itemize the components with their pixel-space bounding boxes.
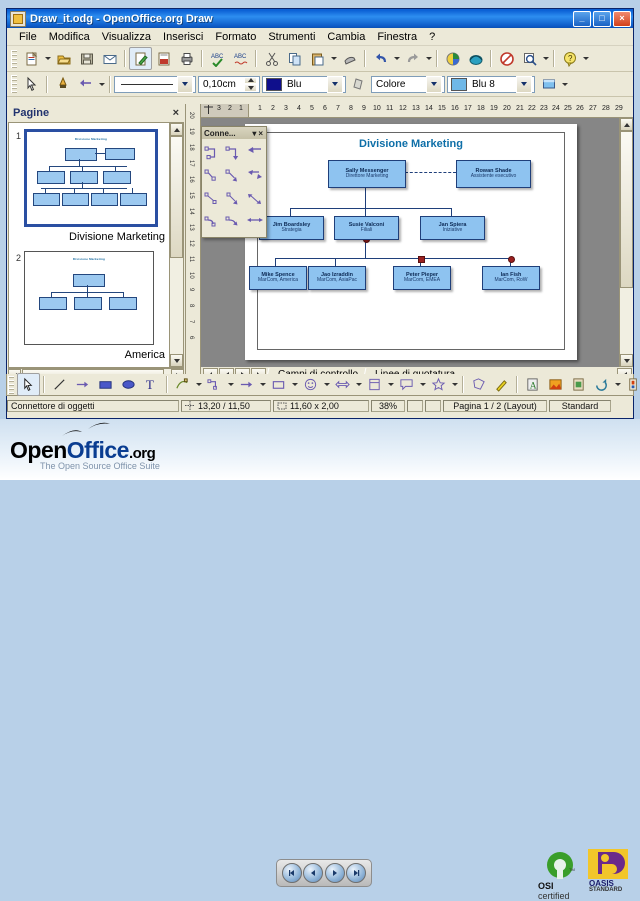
spinner-up-icon[interactable] [248, 78, 254, 82]
osi-bold-text: OSI [538, 881, 554, 891]
shadow-icon[interactable] [348, 73, 371, 96]
node-susie-valconi[interactable]: Susie Valconi Filiali [334, 216, 399, 240]
vruler-tick: 7 [188, 320, 194, 323]
chevron-down-icon [624, 359, 630, 363]
media-last-icon[interactable] [346, 863, 366, 883]
status-style: Standard [549, 400, 611, 412]
openoffice-logo: OpenOffice.org The Open Source Office Su… [10, 427, 160, 471]
help-icon[interactable]: ? [558, 47, 581, 70]
brand-office: Office [67, 437, 129, 463]
cut-icon[interactable] [260, 47, 283, 70]
ellipse-icon[interactable] [117, 373, 140, 396]
vruler-tick: 9 [188, 288, 194, 291]
mini-title: Divisione Marketing [25, 257, 153, 261]
workspace: Pagine × 1 Divisione Marketing [7, 104, 633, 382]
connector-to-jim[interactable] [290, 208, 291, 216]
pages-panel-header: Pagine × [7, 104, 185, 122]
hruler-tick: 7 [336, 105, 340, 112]
toolbar-grip[interactable] [11, 75, 17, 93]
node-rowan-shade[interactable]: Rowan Shade Assistente esecutivo [456, 160, 531, 188]
hruler-tick: 6 [323, 105, 327, 112]
hruler-tick: 21 [516, 105, 524, 112]
vruler-tick: 6 [188, 336, 194, 339]
window-controls: _ □ × [573, 11, 631, 27]
area-style-value: Colore [374, 79, 426, 90]
display-grid-icon[interactable] [495, 47, 518, 70]
page-caption-2: America [13, 347, 179, 368]
media-next-icon[interactable] [325, 863, 345, 883]
svg-text:A: A [530, 381, 537, 391]
rectangle-icon[interactable] [94, 373, 117, 396]
line-and-fill-toolbar: 0,10cm Blu Colore Blu 8 [7, 72, 633, 97]
toolbar-separator [436, 50, 438, 67]
application-window: Draw_it.odg - OpenOffice.org Draw _ □ × … [6, 8, 634, 419]
connector-tool-grid [202, 139, 266, 235]
scroll-down-button[interactable] [620, 354, 633, 367]
connector-icon[interactable] [203, 373, 226, 396]
status-size-value: 11,60 x 2,00 [290, 401, 339, 411]
connector-level3-bus[interactable] [275, 258, 510, 259]
line-width-value: 0,10cm [201, 79, 244, 90]
paste-icon[interactable] [306, 47, 329, 70]
symbol-shapes-dropdown[interactable] [322, 374, 331, 395]
connector-icon[interactable] [203, 141, 224, 164]
menu-inserisci[interactable]: Inserisci [157, 30, 209, 44]
bottom-banner: OpenOffice.org The Open Source Office Su… [0, 419, 640, 480]
horizontal-ruler[interactable]: 3 2 1 1 2 3 4 5 6 7 8 9 10 11 12 13 14 [201, 104, 633, 118]
line-style-preview [121, 84, 173, 85]
hruler-tick: 20 [503, 105, 511, 112]
undo-dropdown[interactable] [392, 48, 401, 69]
node-role: Assistente esecutivo [471, 174, 517, 180]
menu-formato[interactable]: Formato [209, 30, 262, 44]
chevron-down-icon[interactable] [426, 76, 442, 93]
toolbar-separator [201, 50, 203, 67]
page-thumbnail-1[interactable]: 1 Divisione Marketing [13, 129, 179, 227]
gallery-icon[interactable] [567, 373, 590, 396]
zoom-dropdown[interactable] [541, 48, 550, 69]
hruler-tick: 18 [477, 105, 485, 112]
chevron-down-icon[interactable] [177, 76, 193, 93]
save-document-icon[interactable] [75, 47, 98, 70]
brand-tagline: The Open Source Office Suite [40, 461, 160, 471]
hruler-tick: 11 [386, 105, 393, 112]
close-icon[interactable]: × [171, 107, 181, 119]
toolbar-grip[interactable] [11, 50, 17, 68]
hruler-tick: 26 [576, 105, 584, 112]
line-color-value: Blu [285, 79, 327, 90]
spinner-down-icon[interactable] [248, 86, 254, 90]
vruler-tick: 8 [188, 304, 194, 307]
connector-toolbar-titlebar[interactable]: Conne... ▾ × [202, 127, 266, 139]
toolbar-separator [124, 50, 126, 67]
hruler-tick: 9 [362, 105, 366, 112]
edit-file-icon[interactable] [129, 47, 152, 70]
redo-icon[interactable] [401, 47, 424, 70]
document-page[interactable]: Divisione Marketing [245, 124, 577, 360]
hruler-tick: 4 [297, 105, 301, 112]
connector-dropdown[interactable] [226, 374, 235, 395]
status-position: 13,20 / 11,50 [181, 400, 271, 412]
menu-modifica[interactable]: Modifica [43, 30, 96, 44]
hruler-tick: 2 [228, 105, 232, 112]
new-document-icon[interactable] [20, 47, 43, 70]
status-modified [407, 400, 423, 412]
connector-line-arrows-icon[interactable] [244, 164, 265, 187]
menu-cambia[interactable]: Cambia [321, 30, 371, 44]
hruler-tick: 13 [412, 105, 420, 112]
media-player-controls[interactable] [276, 859, 372, 887]
line-icon[interactable] [48, 373, 71, 396]
media-first-icon[interactable] [282, 863, 302, 883]
vruler-tick: 10 [188, 272, 194, 279]
toolbar-separator [462, 376, 464, 393]
menu-bar: File Modifica Visualizza Inserisci Forma… [7, 28, 633, 46]
area-color-value: Blu 8 [470, 79, 516, 90]
hruler-tick: 1 [258, 105, 262, 112]
hruler-tick: 28 [602, 105, 610, 112]
vruler-tick: 18 [188, 144, 194, 151]
ruler-origin-icon [204, 105, 213, 116]
hruler-tick: 23 [540, 105, 548, 112]
connector-starts-arrow-icon[interactable] [244, 141, 265, 164]
node-jan-spiera[interactable]: Jan Spiera Iniziative [420, 216, 485, 240]
hruler-tick: 16 [451, 105, 459, 112]
brand-org: .org [129, 445, 155, 462]
position-icon [185, 401, 195, 412]
node-jim-boardsley[interactable]: Jim Boardsley Strategia [259, 216, 324, 240]
vruler-tick: 19 [188, 128, 194, 135]
node-role: Iniziative [443, 228, 462, 234]
chevron-down-icon[interactable] [327, 76, 343, 93]
scrollbar-thumb[interactable] [170, 136, 183, 258]
svg-text:TM: TM [569, 867, 575, 872]
vruler-tick: 20 [188, 112, 194, 119]
node-role: Direttore Marketing [346, 174, 389, 180]
stars-dropdown[interactable] [450, 374, 459, 395]
connector-to-susie[interactable] [365, 208, 366, 216]
connector-ends-arrow-icon[interactable] [224, 141, 245, 164]
text-icon[interactable]: T [140, 373, 163, 396]
status-signature [425, 400, 441, 412]
menu-strumenti[interactable]: Strumenti [262, 30, 321, 44]
page-caption-1: Divisione Marketing [13, 229, 179, 251]
node-role: Strategia [281, 228, 301, 234]
connector-curved-arrow-end-icon[interactable] [224, 210, 245, 233]
scrollbar-thumb[interactable] [620, 131, 633, 288]
oasis-subtext: STANDARD [589, 887, 622, 893]
hruler-tick: 3 [284, 105, 288, 112]
toolbar-grip[interactable] [8, 376, 14, 394]
status-position-value: 13,20 / 11,50 [198, 401, 250, 411]
maximize-button[interactable]: □ [593, 11, 611, 27]
connector-handle-end[interactable] [508, 256, 515, 263]
title-bar: Draw_it.odg - OpenOffice.org Draw _ □ × [7, 9, 633, 28]
chevron-down-icon [174, 359, 180, 363]
page-preview[interactable]: Divisione Marketing [24, 129, 158, 227]
hruler-tick: 29 [615, 105, 623, 112]
node-role: MarCom, America [258, 278, 298, 284]
line-color-select[interactable]: Blu [262, 76, 346, 93]
arrow-style-icon[interactable] [74, 73, 97, 96]
copy-icon[interactable] [283, 47, 306, 70]
connector-straight-arrow-end-icon[interactable] [224, 187, 245, 210]
redo-dropdown[interactable] [424, 48, 433, 69]
arrow-style-dropdown[interactable] [97, 74, 106, 95]
hruler-tick: 25 [564, 105, 572, 112]
vruler-tick: 12 [188, 240, 194, 247]
connector-line-arrow-end-icon[interactable] [224, 164, 245, 187]
connector-sally-rowan[interactable] [405, 172, 456, 173]
3d-objects-icon[interactable] [467, 373, 490, 396]
toolbar-separator [364, 50, 366, 67]
connector-to-mike[interactable] [275, 258, 276, 266]
line-width-stepper[interactable] [244, 77, 257, 92]
hruler-tick: 2 [271, 105, 275, 112]
symbol-shapes-icon[interactable] [299, 373, 322, 396]
window-title: Draw_it.odg - OpenOffice.org Draw [30, 13, 573, 25]
toolbar-separator [516, 376, 518, 393]
size-icon [277, 401, 287, 412]
close-button[interactable]: × [613, 11, 631, 27]
standard-toolbar: ABC ABC [7, 46, 633, 72]
hruler-tick: 10 [373, 105, 381, 112]
connector-toolbar[interactable]: Conne... ▾ × [201, 126, 267, 238]
menu-finestra[interactable]: Finestra [371, 30, 423, 44]
toolbar-separator [43, 376, 45, 393]
svg-text:ABC: ABC [234, 54, 247, 60]
vruler-tick: 13 [188, 224, 194, 231]
menu-file[interactable]: File [13, 30, 43, 44]
scroll-down-button[interactable] [170, 354, 183, 367]
connector-straight-icon[interactable] [203, 187, 224, 210]
spelling-check-icon[interactable]: ABC [206, 47, 229, 70]
connector-level2-bus[interactable] [290, 208, 451, 209]
media-prev-icon[interactable] [303, 863, 323, 883]
rotate-dropdown[interactable] [613, 374, 622, 395]
chevron-up-icon [624, 123, 630, 127]
svg-text:?: ? [568, 54, 573, 63]
connector-to-jao[interactable] [335, 258, 336, 266]
hruler-tick: 12 [399, 105, 407, 112]
connector-toolbar-title: Conne... [204, 129, 251, 138]
hruler-tick: 15 [438, 105, 446, 112]
area-color-select[interactable]: Blu 8 [447, 76, 535, 93]
curve-dropdown[interactable] [194, 374, 203, 395]
node-role: MarCom, AsiaPac [317, 278, 357, 284]
draw-document-icon [10, 11, 26, 27]
osi-certified-logo: TM OSI certified [538, 849, 586, 897]
mini-title: Divisione Marketing [27, 137, 155, 141]
basic-shapes-icon[interactable] [267, 373, 290, 396]
node-jao-izraddin[interactable]: Jao Izraddin MarCom, AsiaPac [308, 266, 366, 290]
line-width-field[interactable]: 0,10cm [198, 76, 260, 93]
osi-text: certified [538, 891, 570, 901]
vruler-tick: 15 [188, 192, 194, 199]
hruler-tick: 1 [239, 105, 243, 112]
autospellcheck-icon[interactable]: ABC [229, 47, 252, 70]
hruler-tick: 19 [490, 105, 498, 112]
send-email-icon[interactable] [98, 47, 121, 70]
points-icon[interactable] [490, 373, 513, 396]
screenshot-root: Draw_it.odg - OpenOffice.org Draw _ □ × … [0, 0, 640, 480]
status-size: 11,60 x 2,00 [273, 400, 369, 412]
pages-vertical-scrollbar[interactable] [169, 123, 183, 367]
pages-list[interactable]: 1 Divisione Marketing [8, 122, 184, 368]
block-arrows-icon[interactable] [331, 373, 354, 396]
pages-panel: Pagine × 1 Divisione Marketing [7, 104, 186, 382]
hruler-tick: 22 [528, 105, 536, 112]
hruler-tick: 5 [310, 105, 314, 112]
connector-curved-arrows-icon[interactable] [244, 210, 265, 233]
toolbar-separator [490, 50, 492, 67]
connector-curved-icon[interactable] [203, 210, 224, 233]
basic-shapes-dropdown[interactable] [290, 374, 299, 395]
callouts-icon[interactable] [395, 373, 418, 396]
vertical-ruler[interactable]: 20 19 18 17 16 15 14 13 12 11 10 9 8 7 6 [186, 104, 201, 382]
status-zoom[interactable]: 38% [371, 400, 405, 412]
brand-text: OpenOffice.org [10, 437, 160, 464]
scroll-up-button[interactable] [620, 118, 633, 131]
page-number: 1 [13, 129, 24, 141]
oasis-standard-logo: OASIS STANDARD [586, 849, 632, 895]
scroll-up-button[interactable] [170, 123, 183, 136]
fontwork-icon[interactable]: A [521, 373, 544, 396]
block-arrows-dropdown[interactable] [354, 374, 363, 395]
area-color-swatch [451, 78, 467, 91]
vruler-tick: 14 [188, 208, 194, 215]
svg-text:T: T [146, 377, 154, 392]
area-dialog-icon[interactable] [537, 73, 560, 96]
hruler-tick: 3 [217, 105, 221, 112]
from-file-icon[interactable] [544, 373, 567, 396]
minimize-button[interactable]: _ [573, 11, 591, 27]
menu-help[interactable]: ? [423, 30, 441, 44]
drawing-toolbar: T [6, 374, 634, 396]
vruler-tick: 11 [188, 256, 194, 262]
clone-formatting-icon[interactable] [338, 47, 361, 70]
hruler-tick: 27 [589, 105, 597, 112]
gallery-icon[interactable] [441, 47, 464, 70]
line-with-arrow-icon[interactable] [71, 373, 94, 396]
page-number: 2 [13, 251, 24, 263]
undo-icon[interactable] [369, 47, 392, 70]
chevron-down-icon[interactable] [516, 76, 532, 93]
status-bar: Connettore di oggetti 13,20 / 11,50 11,6… [7, 399, 633, 413]
select-arrow-icon[interactable] [17, 373, 40, 396]
new-document-dropdown[interactable] [43, 48, 52, 69]
connector-sally-down[interactable] [365, 186, 366, 208]
vruler-tick: 17 [188, 160, 194, 167]
node-sally-messenger[interactable]: Sally Messenger Direttore Marketing [328, 160, 406, 188]
open-document-icon[interactable] [52, 47, 75, 70]
rotate-icon[interactable] [590, 373, 613, 396]
node-role: MarCom, EMEA [404, 278, 440, 284]
chevron-up-icon [174, 128, 180, 132]
connector-to-jan[interactable] [451, 208, 452, 216]
line-color-swatch [266, 78, 282, 91]
standard-toolbar-overflow[interactable] [581, 48, 590, 69]
navigator-icon[interactable] [464, 47, 487, 70]
line-style-select[interactable] [114, 76, 196, 93]
hruler-tick: 24 [552, 105, 560, 112]
zoom-icon[interactable] [518, 47, 541, 70]
toolbar-separator [109, 76, 111, 93]
pages-panel-title: Pagine [13, 107, 49, 119]
page-preview[interactable]: Divisione Marketing [24, 251, 154, 345]
page-thumbnail-2[interactable]: 2 Divisione Marketing [13, 251, 179, 345]
vruler-tick: 16 [188, 176, 194, 183]
close-icon[interactable]: × [257, 129, 264, 138]
status-object-info: Connettore di oggetti [7, 400, 179, 412]
callouts-dropdown[interactable] [418, 374, 427, 395]
lines-and-arrows-dropdown[interactable] [258, 374, 267, 395]
node-peter-pieper[interactable]: Peter Pieper MarCom, EMEA [393, 266, 451, 290]
toolbar-separator [255, 50, 257, 67]
export-pdf-icon[interactable] [152, 47, 175, 70]
menu-visualizza[interactable]: Visualizza [96, 30, 157, 44]
select-icon[interactable] [20, 73, 43, 96]
status-page: Pagina 1 / 2 (Layout) [443, 400, 547, 412]
hruler-tick: 17 [464, 105, 472, 112]
stars-icon[interactable] [427, 373, 450, 396]
hruler-tick: 14 [425, 105, 433, 112]
line-toolbar-overflow[interactable] [560, 74, 569, 95]
node-role: Filiali [361, 228, 372, 234]
toolbar-separator [46, 76, 48, 93]
toolbar-separator [553, 50, 555, 67]
line-color-icon[interactable] [51, 73, 74, 96]
flowchart-dropdown[interactable] [386, 374, 395, 395]
node-mike-spence[interactable]: Mike Spence MarCom, America [249, 266, 307, 290]
hruler-tick: 8 [349, 105, 353, 112]
canvas-vertical-scrollbar[interactable] [619, 118, 633, 367]
diagram-title: Divisione Marketing [245, 138, 577, 150]
connector-line-icon[interactable] [203, 164, 224, 187]
curve-icon[interactable] [171, 373, 194, 396]
paste-dropdown[interactable] [329, 48, 338, 69]
extrusion-icon[interactable] [622, 373, 640, 396]
connector-handle-mid[interactable] [418, 256, 425, 263]
connector-straight-arrows-icon[interactable] [244, 187, 265, 210]
print-icon[interactable] [175, 47, 198, 70]
toolbar-separator [166, 376, 168, 393]
seagull-icon [58, 421, 144, 439]
lines-and-arrows-icon[interactable] [235, 373, 258, 396]
node-ian-fish[interactable]: Ian Fish MarCom, RoW [482, 266, 540, 290]
area-style-select[interactable]: Colore [371, 76, 445, 93]
brand-open: Open [10, 437, 67, 463]
flowchart-icon[interactable] [363, 373, 386, 396]
node-role: MarCom, RoW [494, 278, 527, 284]
